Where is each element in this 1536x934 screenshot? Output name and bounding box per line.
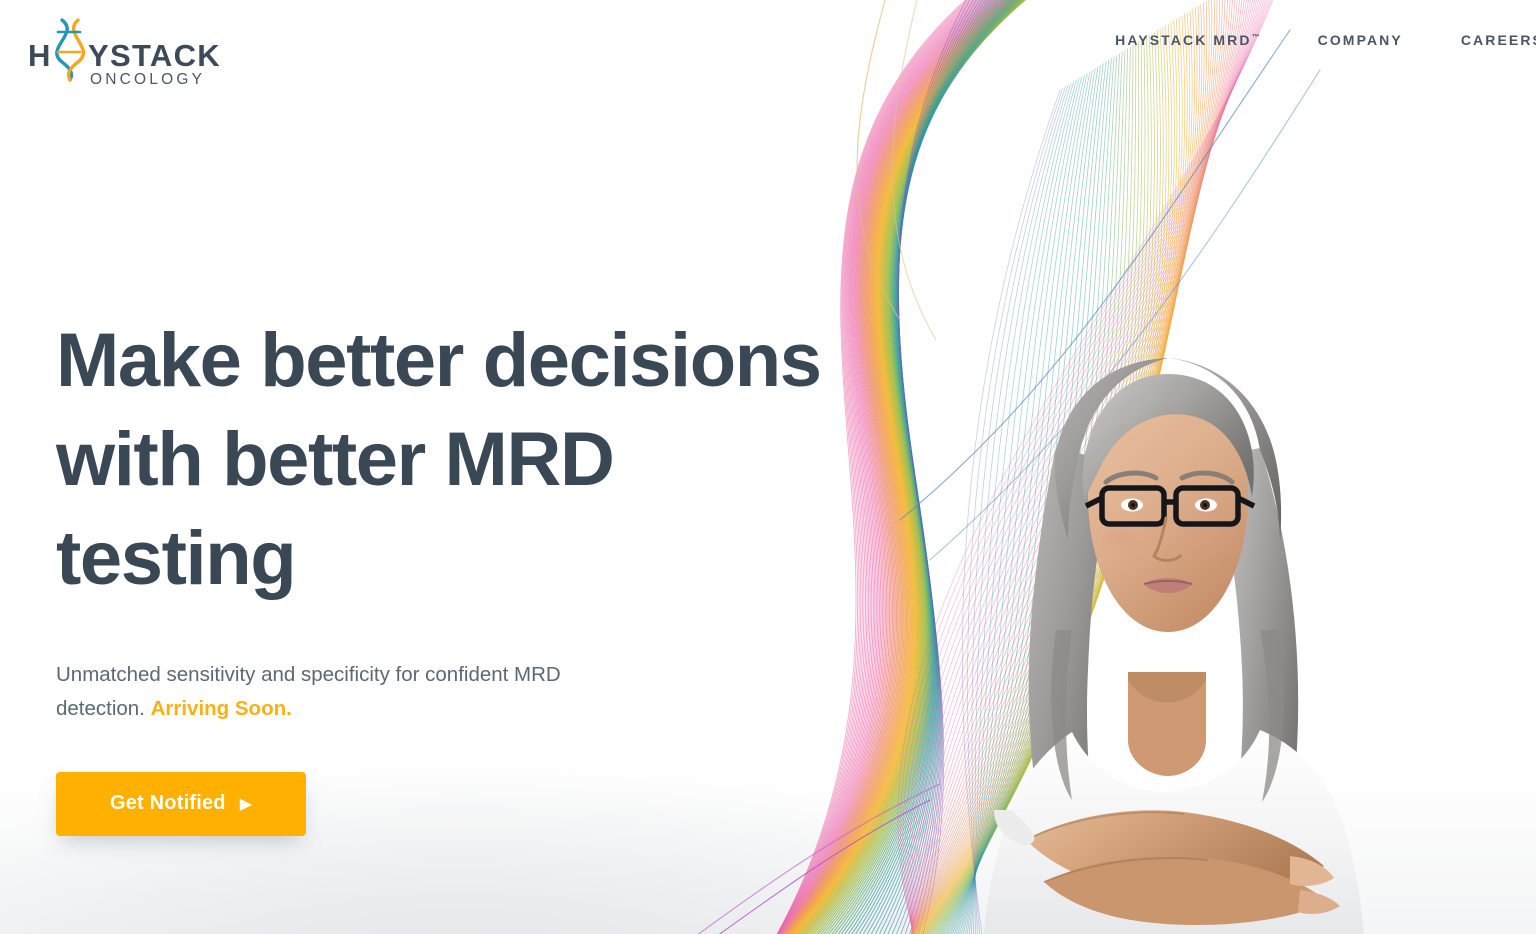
hero-section: Make better decisions with better MRD te… [56, 312, 896, 836]
haystack-oncology-logo[interactable]: H YSTACK ONCOLOGY [28, 14, 258, 84]
nav-item-haystack-mrd[interactable]: HAYSTACK MRD™ [1115, 32, 1259, 48]
page-title: Make better decisions with better MRD te… [56, 312, 896, 608]
trademark-symbol: ™ [1252, 32, 1260, 41]
logo-word-rest: YSTACK [88, 38, 221, 73]
nav-item-label: COMPANY [1318, 32, 1403, 48]
logo-subtitle: ONCOLOGY [90, 71, 205, 84]
play-arrow-icon: ▶ [240, 797, 252, 813]
nav-item-careers[interactable]: CAREERS [1461, 32, 1536, 48]
hero-subtitle: Unmatched sensitivity and specificity fo… [56, 658, 616, 724]
cta-label: Get Notified [110, 792, 226, 815]
nav-item-label: HAYSTACK MRD [1115, 32, 1251, 48]
site-header: H YSTACK ONCOLOGY HAYSTACK MRD™ COMPANY … [0, 0, 1536, 100]
hero-subtitle-accent: Arriving Soon. [151, 697, 292, 720]
get-notified-button[interactable]: Get Notified ▶ [56, 772, 306, 836]
hero-portrait-image [960, 300, 1390, 934]
nav-item-label: CAREERS [1461, 32, 1536, 48]
nav-item-company[interactable]: COMPANY [1318, 32, 1403, 48]
logo-word-h: H [28, 38, 52, 73]
landing-page: H YSTACK ONCOLOGY HAYSTACK MRD™ COMPANY … [0, 0, 1536, 934]
primary-navigation: HAYSTACK MRD™ COMPANY CAREERS [1115, 32, 1536, 48]
hero-subtitle-lead: Unmatched sensitivity and specificity fo… [56, 663, 561, 719]
